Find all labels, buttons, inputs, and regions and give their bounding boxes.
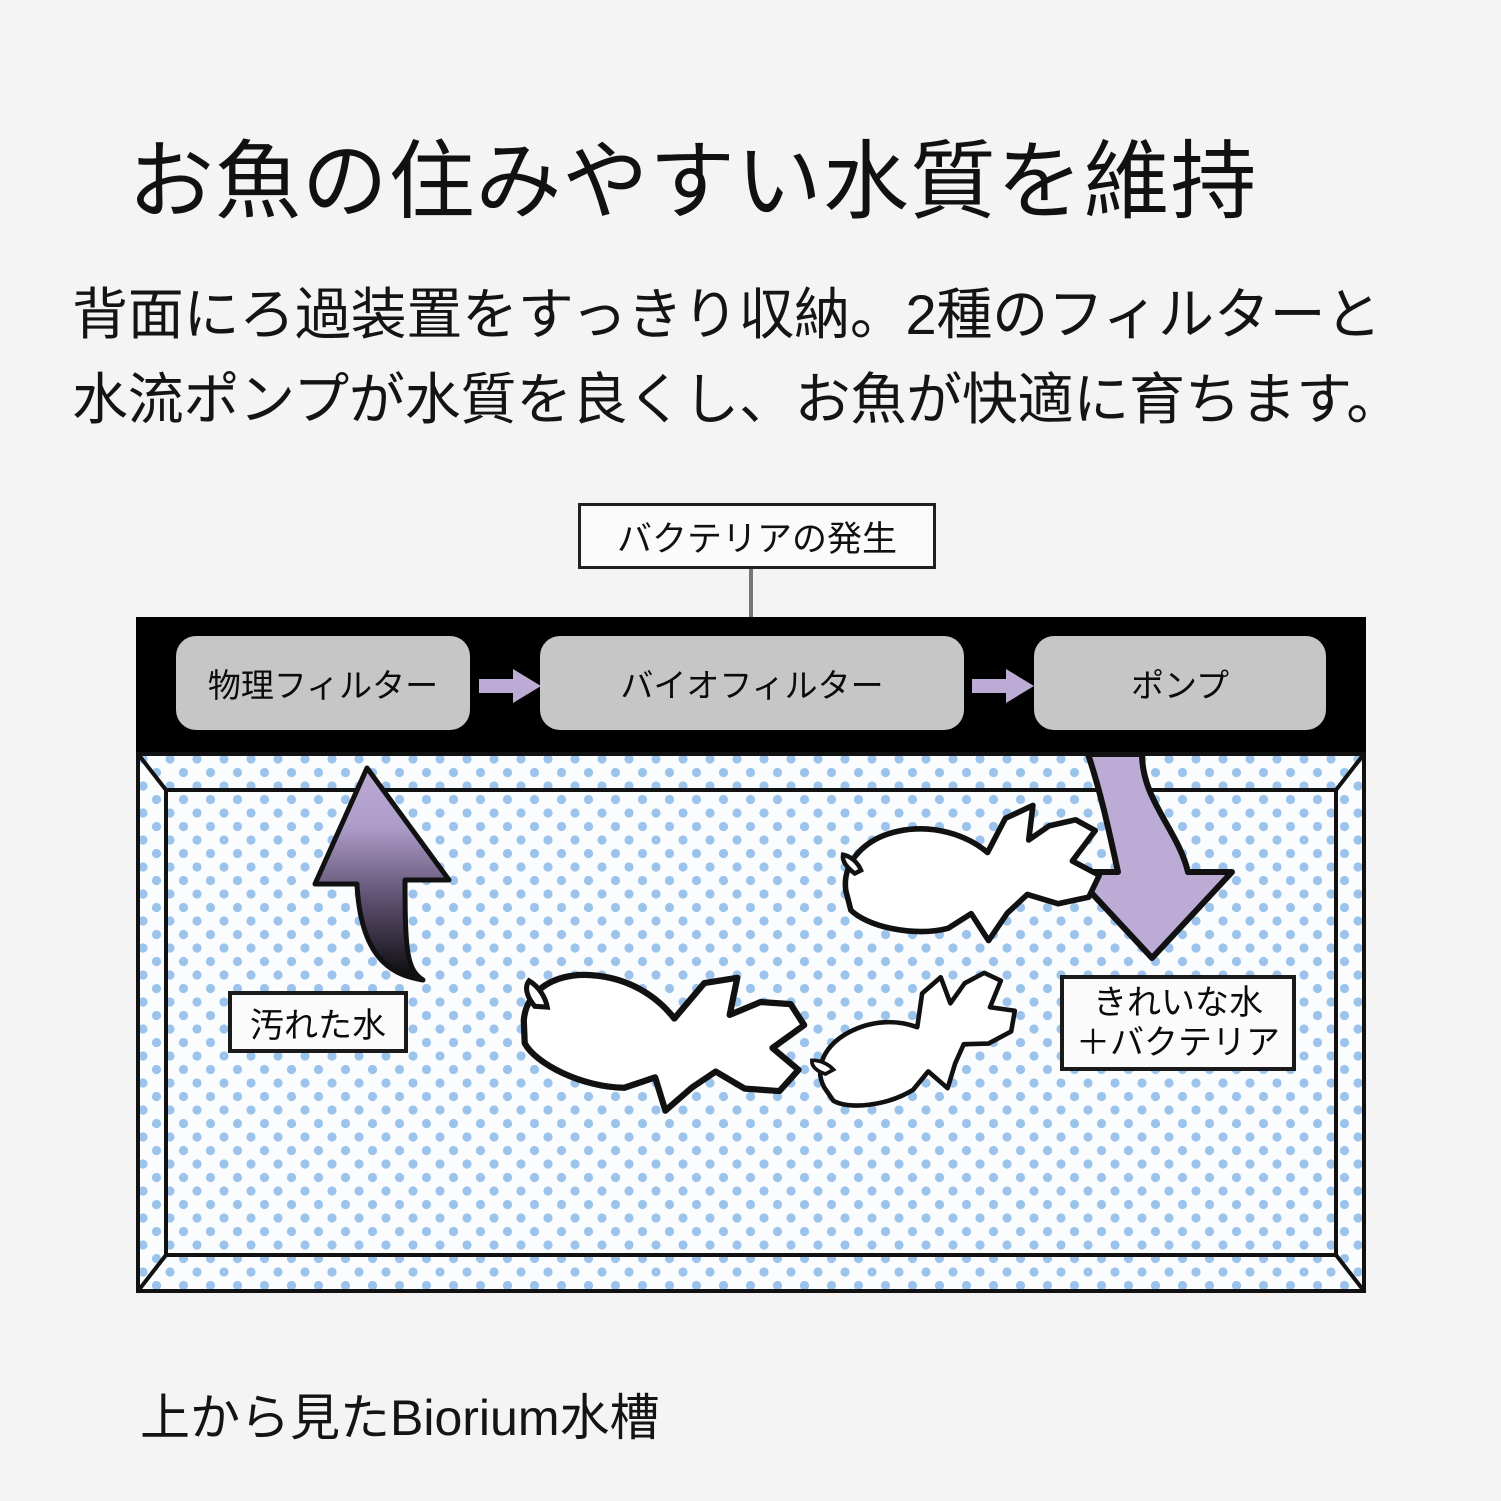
dirty-water-label: 汚れた水 xyxy=(228,991,408,1053)
infographic-page: お魚の住みやすい水質を維持 背面にろ過装置をすっきり収納。2種のフィルターと 水… xyxy=(0,0,1501,1501)
clean-water-label: きれいな水 ＋バクテリア xyxy=(1060,975,1296,1071)
filter-step-bio: バイオフィルター xyxy=(540,636,964,730)
clean-water-label-line-1: きれいな水 xyxy=(1093,983,1263,1023)
bacteria-callout-box: バクテリアの発生 xyxy=(578,503,936,569)
page-subtitle: 背面にろ過装置をすっきり収納。2種のフィルターと 水流ポンプが水質を良くし、お魚… xyxy=(72,272,1452,442)
page-title: お魚の住みやすい水質を維持 xyxy=(128,136,1418,229)
filter-step-pump: ポンプ xyxy=(1034,636,1326,730)
flow-arrow-icon-1 xyxy=(479,669,541,703)
flow-arrow-icon-2 xyxy=(972,669,1034,703)
clean-water-label-line-2: ＋バクテリア xyxy=(1076,1023,1280,1063)
filter-unit-bar: 物理フィルター バイオフィルター ポンプ xyxy=(136,617,1366,752)
subtitle-line-1: 背面にろ過装置をすっきり収納。2種のフィルターと xyxy=(72,272,1452,357)
subtitle-line-2: 水流ポンプが水質を良くし、お魚が快適に育ちます。 xyxy=(72,357,1452,442)
filter-step-physical: 物理フィルター xyxy=(176,636,470,730)
figure-caption: 上から見たBiorium水槽 xyxy=(140,1378,659,1450)
